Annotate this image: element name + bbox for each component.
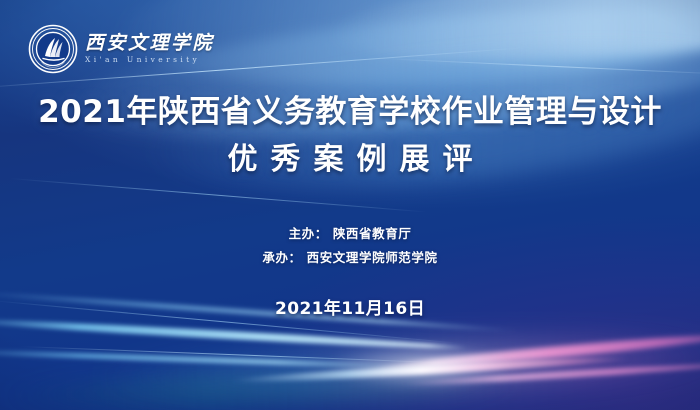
pink-ray-decoration: [400, 361, 700, 388]
cyan-ray-decoration: [0, 348, 420, 370]
university-name-cn: 西安文理学院: [85, 34, 214, 53]
university-logo: 西安文理学院 Xi'an University: [28, 24, 214, 74]
hairline-streak-decoration: [20, 346, 450, 364]
core-ray-decoration: [230, 354, 630, 385]
wide-glow-decoration: [89, 332, 700, 403]
hairline-streak-decoration: [380, 58, 700, 75]
university-seal-icon: [28, 24, 78, 74]
co-organizer-line: 承办： 西安文理学院师范学院: [0, 246, 700, 270]
light-swoosh-decoration: [328, 0, 700, 73]
host-organizer-line: 主办： 陕西省教育厅: [0, 222, 700, 246]
teal-haze-decoration: [0, 365, 520, 410]
organizer-block: 主办： 陕西省教育厅 承办： 西安文理学院师范学院: [0, 222, 700, 271]
university-name-en: Xi'an University: [85, 56, 214, 64]
pink-ray-decoration: [370, 331, 700, 375]
cyan-ray-decoration: [0, 316, 470, 352]
bottom-light-rays-decoration: [0, 260, 700, 410]
event-poster-backdrop: 西安文理学院 Xi'an University 2021年陕西省义务教育学校作业…: [0, 0, 700, 410]
poster-title-line2: 优秀案例展评: [0, 143, 700, 178]
event-date: 2021年11月16日: [0, 294, 700, 319]
hairline-streak-decoration: [10, 178, 429, 213]
ray-convergence-glow: [330, 346, 510, 386]
poster-title-line1: 2021年陕西省义务教育学校作业管理与设计: [0, 95, 700, 129]
poster-title-block: 2021年陕西省义务教育学校作业管理与设计 优秀案例展评: [0, 95, 700, 178]
event-date-block: 2021年11月16日: [0, 294, 700, 319]
